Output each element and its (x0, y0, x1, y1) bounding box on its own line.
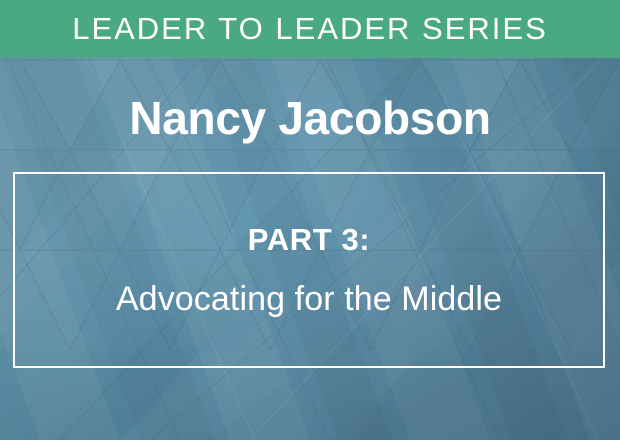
episode-title: Advocating for the Middle (116, 281, 502, 318)
episode-frame: PART 3: Advocating for the Middle (13, 172, 605, 368)
series-banner-label: LEADER TO LEADER SERIES (72, 13, 548, 46)
speaker-name-heading: Nancy Jacobson (0, 94, 620, 142)
video-title-card: LEADER TO LEADER SERIES Nancy Jacobson P… (0, 0, 620, 440)
part-label: PART 3: (248, 224, 370, 255)
series-banner: LEADER TO LEADER SERIES (0, 0, 620, 58)
